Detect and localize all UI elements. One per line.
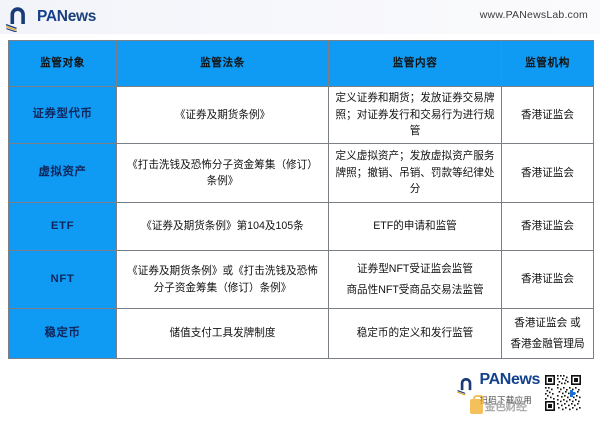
cell-law: 《证券及期货条例》第104及105条 xyxy=(117,203,329,251)
table-row: ETF 《证券及期货条例》第104及105条 ETF的申请和监管 香港证监会 xyxy=(9,203,594,251)
table-row: NFT 《证券及期货条例》或《打击洗钱及恐怖分子资金筹集（修订）条例》 证券型N… xyxy=(9,251,594,309)
cell-agency-line-2: 香港金融管理局 xyxy=(507,336,588,352)
cell-law: 储值支付工具发牌制度 xyxy=(117,309,329,359)
table-row: 证券型代币 《证券及期货条例》 定义证券和期货；发放证券交易牌照；对证券发行和交… xyxy=(9,87,594,144)
qr-code-icon[interactable] xyxy=(544,374,582,412)
cell-agency-line-1: 香港证监会 或 xyxy=(507,315,588,331)
brand-name: PANews xyxy=(37,8,96,26)
cell-content-line-1: 证券型NFT受证监会监管 xyxy=(334,261,496,277)
brand-logo[interactable]: PANews xyxy=(4,0,96,34)
cell-agency: 香港证监会 xyxy=(502,203,594,251)
column-header-object: 监管对象 xyxy=(9,41,117,87)
cell-content: 定义证券和期货；发放证券交易牌照；对证券发行和交易行为进行规管 xyxy=(329,87,502,144)
page-header: PANews www.PANewsLab.com xyxy=(0,0,600,34)
table-header-row: 监管对象 监管法条 监管内容 监管机构 xyxy=(9,41,594,87)
cell-law: 《打击洗钱及恐怖分子资金筹集（修订）条例》 xyxy=(117,144,329,203)
cell-agency: 香港证监会 xyxy=(502,87,594,144)
brand-name-pa: PA xyxy=(37,8,57,25)
cell-object: 虚拟资产 xyxy=(9,144,117,203)
footer-brand-news: News xyxy=(500,371,540,388)
cell-agency: 香港证监会 或 香港金融管理局 xyxy=(502,309,594,359)
panews-arch-logo-icon xyxy=(4,2,34,32)
footer-app-badge: PANews 扫码下载应用 金色财经 xyxy=(456,371,582,415)
cell-object: 稳定币 xyxy=(9,309,117,359)
column-header-content: 监管内容 xyxy=(329,41,502,87)
panews-arch-logo-icon xyxy=(456,374,478,396)
brand-name-news: News xyxy=(57,8,96,25)
footer-brand-name: PANews xyxy=(480,372,540,388)
table-row: 稳定币 储值支付工具发牌制度 稳定币的定义和发行监管 香港证监会 或 香港金融管… xyxy=(9,309,594,359)
cell-content-line-2: 商品性NFT受商品交易法监管 xyxy=(334,282,496,298)
cell-law: 《证券及期货条例》 xyxy=(117,87,329,144)
cell-content: 定义虚拟资产；发放虚拟资产服务牌照；撤销、吊销、罚款等纪律处分 xyxy=(329,144,502,203)
column-header-agency: 监管机构 xyxy=(502,41,594,87)
cell-content: 稳定币的定义和发行监管 xyxy=(329,309,502,359)
column-header-law: 监管法条 xyxy=(117,41,329,87)
cell-agency: 香港证监会 xyxy=(502,251,594,309)
cell-content: ETF的申请和监管 xyxy=(329,203,502,251)
cell-law: 《证券及期货条例》或《打击洗钱及恐怖分子资金筹集（修订）条例》 xyxy=(117,251,329,309)
regulation-table: 监管对象 监管法条 监管内容 监管机构 证券型代币 《证券及期货条例》 定义证券… xyxy=(8,40,594,359)
footer-brand-logo: PANews 扫码下载应用 金色财经 xyxy=(456,371,540,415)
table-row: 虚拟资产 《打击洗钱及恐怖分子资金筹集（修订）条例》 定义虚拟资产；发放虚拟资产… xyxy=(9,144,594,203)
footer-tagline: 扫码下载应用 xyxy=(480,394,540,406)
cell-content: 证券型NFT受证监会监管 商品性NFT受商品交易法监管 xyxy=(329,251,502,309)
footer-brand-pa: PA xyxy=(480,371,500,388)
cell-object: ETF xyxy=(9,203,117,251)
cell-object: 证券型代币 xyxy=(9,87,117,144)
regulation-table-wrapper: 监管对象 监管法条 监管内容 监管机构 证券型代币 《证券及期货条例》 定义证券… xyxy=(8,40,593,359)
cell-object: NFT xyxy=(9,251,117,309)
cell-agency: 香港证监会 xyxy=(502,144,594,203)
site-url[interactable]: www.PANewsLab.com xyxy=(480,9,588,21)
